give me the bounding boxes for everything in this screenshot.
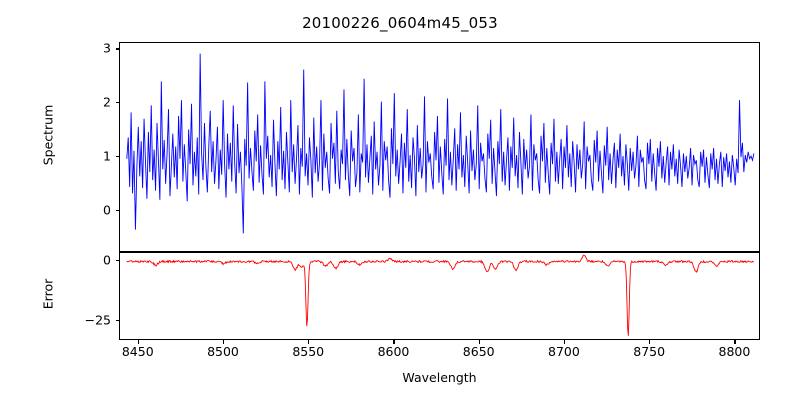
figure-canvas: 20100226_0604m45_053 Spectrum Error Wave… xyxy=(0,0,800,400)
spectrum-y-tick-label: 1 xyxy=(103,149,111,164)
spectrum-y-tick-label: 2 xyxy=(103,95,111,110)
x-tick-label: 8500 xyxy=(207,344,239,359)
x-tick xyxy=(564,340,565,344)
x-tick xyxy=(223,340,224,344)
spectrum-plot-panel xyxy=(119,42,760,252)
spectrum-y-tick xyxy=(116,156,120,157)
error-plot-panel xyxy=(119,252,760,340)
x-tick xyxy=(308,340,309,344)
x-tick-label: 8800 xyxy=(719,344,751,359)
x-tick-label: 8750 xyxy=(633,344,665,359)
error-line xyxy=(127,255,754,336)
page-title: 20100226_0604m45_053 xyxy=(0,14,800,32)
spectrum-line xyxy=(127,54,754,234)
error-y-tick-label: −25 xyxy=(85,312,111,327)
x-tick-label: 8550 xyxy=(292,344,324,359)
spectrum-series xyxy=(120,43,759,251)
error-y-tick xyxy=(116,260,120,261)
x-tick xyxy=(649,340,650,344)
spectrum-y-tick-label: 3 xyxy=(103,41,111,56)
x-tick-label: 8450 xyxy=(122,344,154,359)
x-tick xyxy=(393,340,394,344)
error-series xyxy=(120,253,759,339)
error-y-tick xyxy=(116,320,120,321)
spectrum-y-tick-label: 0 xyxy=(103,203,111,218)
x-tick xyxy=(138,340,139,344)
spectrum-y-tick xyxy=(116,102,120,103)
spectrum-y-tick xyxy=(116,210,120,211)
spectrum-y-axis-label: Spectrum xyxy=(41,80,56,190)
x-tick xyxy=(734,340,735,344)
x-tick-label: 8650 xyxy=(463,344,495,359)
x-tick-label: 8600 xyxy=(378,344,410,359)
spectrum-y-tick xyxy=(116,48,120,49)
error-y-axis-label: Error xyxy=(41,249,56,339)
error-y-tick-label: 0 xyxy=(103,253,111,268)
x-tick-label: 8700 xyxy=(548,344,580,359)
x-axis-label: Wavelength xyxy=(119,370,760,385)
x-tick xyxy=(479,340,480,344)
